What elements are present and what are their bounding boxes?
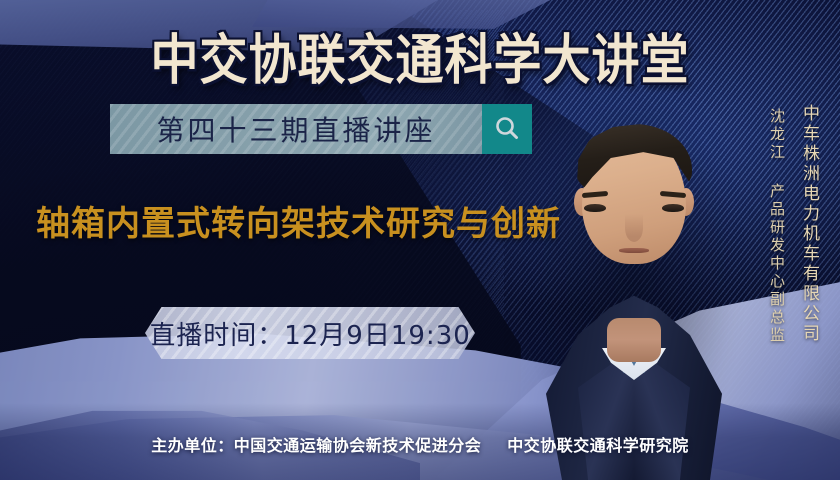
- series-banner: 第四十三期直播讲座: [110, 104, 532, 154]
- portrait-eye-left: [584, 204, 606, 212]
- speaker-company: 中车株洲电力机车有限公司: [797, 104, 822, 344]
- lecture-topic: 轴箱内置式转向架技术研究与创新: [36, 196, 561, 245]
- webinar-poster: 中交协联交通科学大讲堂 第四十三期直播讲座 轴箱内置式转向架技术研究与创新 直播…: [0, 0, 840, 480]
- search-icon: [492, 114, 522, 144]
- portrait-eye-right: [662, 204, 684, 212]
- broadcast-time-pill: 直播时间：12月9日19:30: [145, 307, 475, 359]
- footer-organizer-secondary: 中交协联交通科学研究院: [507, 436, 689, 455]
- series-banner-label: 第四十三期直播讲座: [156, 109, 435, 149]
- footer-organizer-label: 主办单位：: [151, 436, 234, 455]
- search-icon-box[interactable]: [482, 104, 532, 154]
- portrait-nose: [625, 214, 643, 242]
- speaker-name-and-title: 沈龙江 产品研发中心副总监: [767, 108, 788, 345]
- speaker-portrait: [540, 96, 728, 480]
- series-banner-body: 第四十三期直播讲座: [110, 104, 482, 154]
- portrait-mouth: [619, 248, 649, 253]
- page-title: 中交协联交通科学大讲堂: [0, 16, 840, 94]
- portrait-neck: [607, 318, 661, 362]
- broadcast-time-text: 直播时间：12月9日19:30: [149, 315, 471, 352]
- footer-organizers: 主办单位：中国交通运输协会新技术促进分会中交协联交通科学研究院: [0, 432, 840, 456]
- footer-organizer-primary: 中国交通运输协会新技术促进分会: [234, 436, 482, 455]
